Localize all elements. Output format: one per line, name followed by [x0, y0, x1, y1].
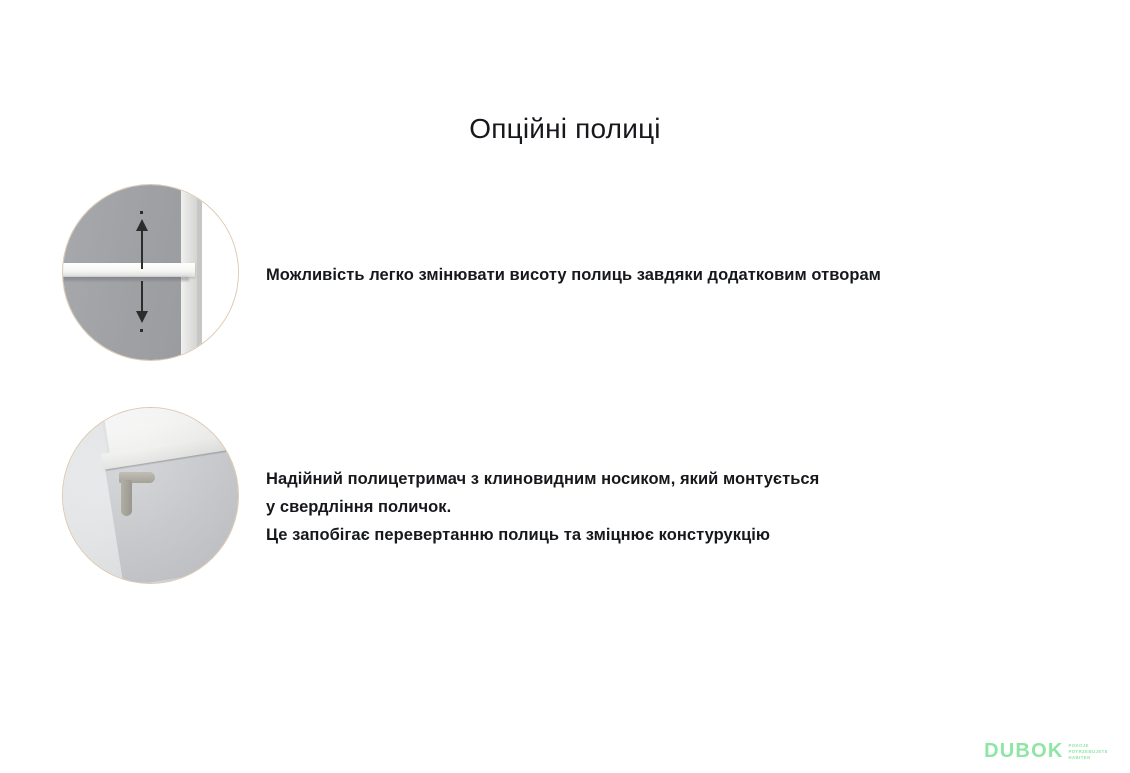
- photo-vignette: [63, 408, 238, 583]
- logo-tagline-line-1: POKOJE: [1068, 743, 1108, 748]
- feature-1-line-1: Можливість легко змінювати висоту полиць…: [266, 261, 881, 289]
- shelf-board-shape: [63, 263, 195, 277]
- feature-1-text: Можливість легко змінювати висоту полиць…: [266, 261, 881, 289]
- arrow-up-stem: [141, 229, 143, 269]
- height-adjust-arrows: [135, 211, 149, 339]
- shelf-shadow-shape: [63, 277, 189, 281]
- logo-tagline-line-2: POTRZEBUJETE: [1068, 749, 1108, 754]
- shelf-holder-pin-photo: [63, 408, 238, 583]
- logo-tagline: POKOJE POTRZEBUJETE HABITEN: [1068, 742, 1108, 760]
- logo-tagline-line-3: HABITEN: [1068, 755, 1108, 760]
- arrow-bottom-dot-icon: [140, 329, 143, 332]
- feature-2-line-3: Це запобігає перевертанню полиць та зміц…: [266, 521, 819, 549]
- adjustable-shelf-height-photo: [63, 185, 238, 360]
- arrow-down-icon: [136, 311, 148, 323]
- feature-2-text: Надійний полицетримач з клиновидним носи…: [266, 465, 819, 549]
- slide-canvas: Опційні полиці Можливість легко змінюват…: [0, 0, 1130, 773]
- page-title: Опційні полиці: [0, 112, 1130, 146]
- feature-2-line-1: Надійний полицетримач з клиновидним носи…: [266, 465, 819, 493]
- feature-2-line-2: у свердління поличок.: [266, 493, 819, 521]
- arrow-top-dot-icon: [140, 211, 143, 214]
- panel-edge-shadow-shape: [197, 185, 202, 360]
- dubok-logo[interactable]: DUBOK POKOJE POTRZEBUJETE HABITEN: [984, 741, 1108, 761]
- logo-wordmark: DUBOK: [984, 741, 1063, 761]
